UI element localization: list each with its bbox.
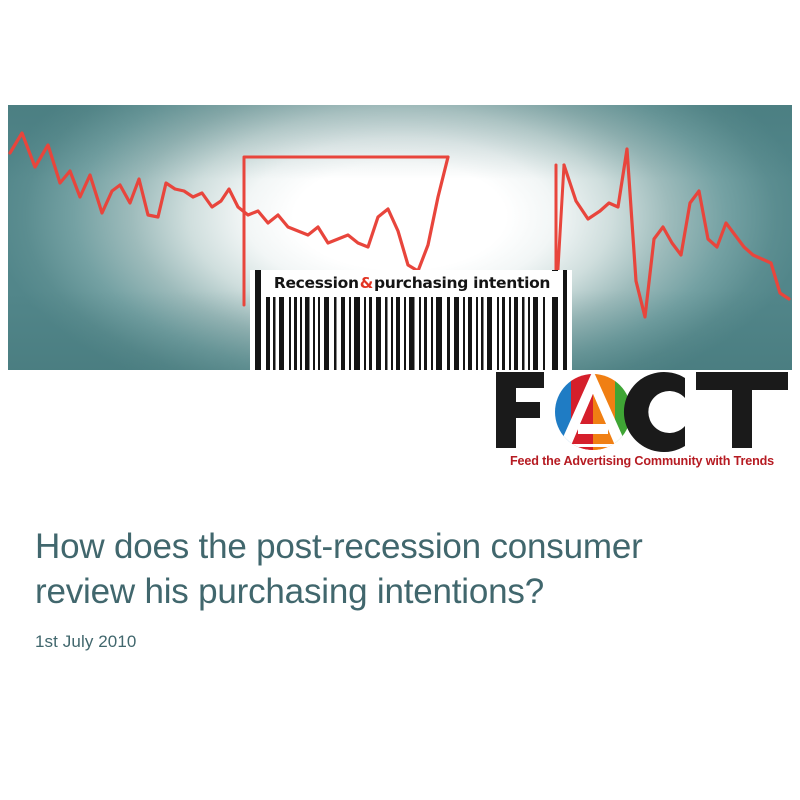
slide-date: 1st July 2010 [35,632,755,652]
fact-logo-tagline: Feed the Advertising Community with Tren… [492,454,792,468]
page-title: How does the post-recession consumer rev… [35,524,755,614]
logo-letter-t [696,372,788,448]
fact-logo: Feed the Advertising Community with Tren… [492,368,792,480]
fact-logo-mark [492,368,792,452]
logo-letter-c [613,368,701,452]
barcode-label: Recession & purchasing intention [266,271,558,297]
hero-banner: Recession & purchasing intention [8,105,792,370]
barcode-graphic: Recession & purchasing intention [250,270,572,370]
barcode-inner: Recession & purchasing intention [250,270,572,370]
title-block: How does the post-recession consumer rev… [35,524,755,652]
barcode-label-prefix: Recession [274,276,359,292]
title-slide: Recession & purchasing intention [0,0,800,800]
barcode-label-ampersand: & [359,276,374,292]
barcode-label-suffix: purchasing intention [374,276,550,292]
logo-letter-f [496,372,544,448]
